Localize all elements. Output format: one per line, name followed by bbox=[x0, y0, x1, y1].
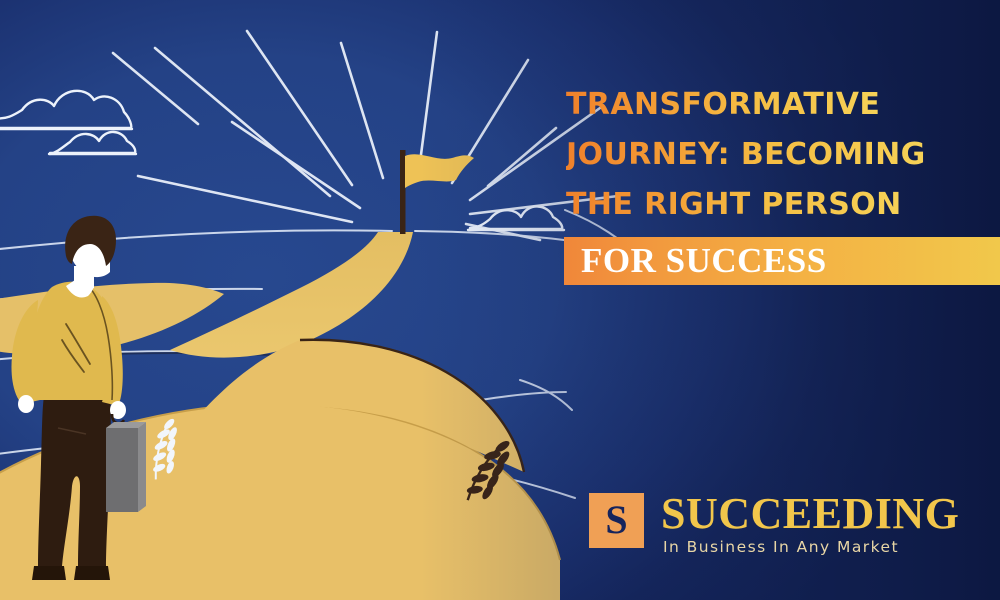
briefcase-body bbox=[106, 428, 138, 512]
briefcase-side bbox=[138, 422, 146, 512]
logo-tagline: In Business In Any Market bbox=[663, 538, 959, 556]
banner-root: Transformative Journey: Becoming The Rig… bbox=[0, 0, 1000, 600]
highlight-bar: For Success bbox=[564, 237, 1000, 285]
flag-pole bbox=[400, 150, 406, 234]
headline-line-1: Transformative bbox=[566, 90, 880, 120]
shoe-left bbox=[32, 566, 66, 580]
logo-mark-letter: S bbox=[605, 500, 627, 540]
highlight-bar-text: For Success bbox=[564, 241, 827, 281]
headline-line-3: The Right Person bbox=[566, 190, 902, 220]
shoe-right bbox=[74, 566, 110, 580]
cloud-outline-upper-left bbox=[0, 91, 132, 129]
logo-text-block: Succeeding In Business In Any Market bbox=[661, 493, 959, 556]
hand-left bbox=[18, 395, 34, 413]
cloud-outline-lower-left bbox=[49, 132, 136, 154]
logo-mark-square: S bbox=[589, 493, 644, 548]
headline-line-2: Journey: Becoming bbox=[566, 140, 926, 170]
brand-logo[interactable]: S Succeeding In Business In Any Market bbox=[589, 493, 959, 556]
logo-wordmark: Succeeding bbox=[661, 493, 959, 535]
